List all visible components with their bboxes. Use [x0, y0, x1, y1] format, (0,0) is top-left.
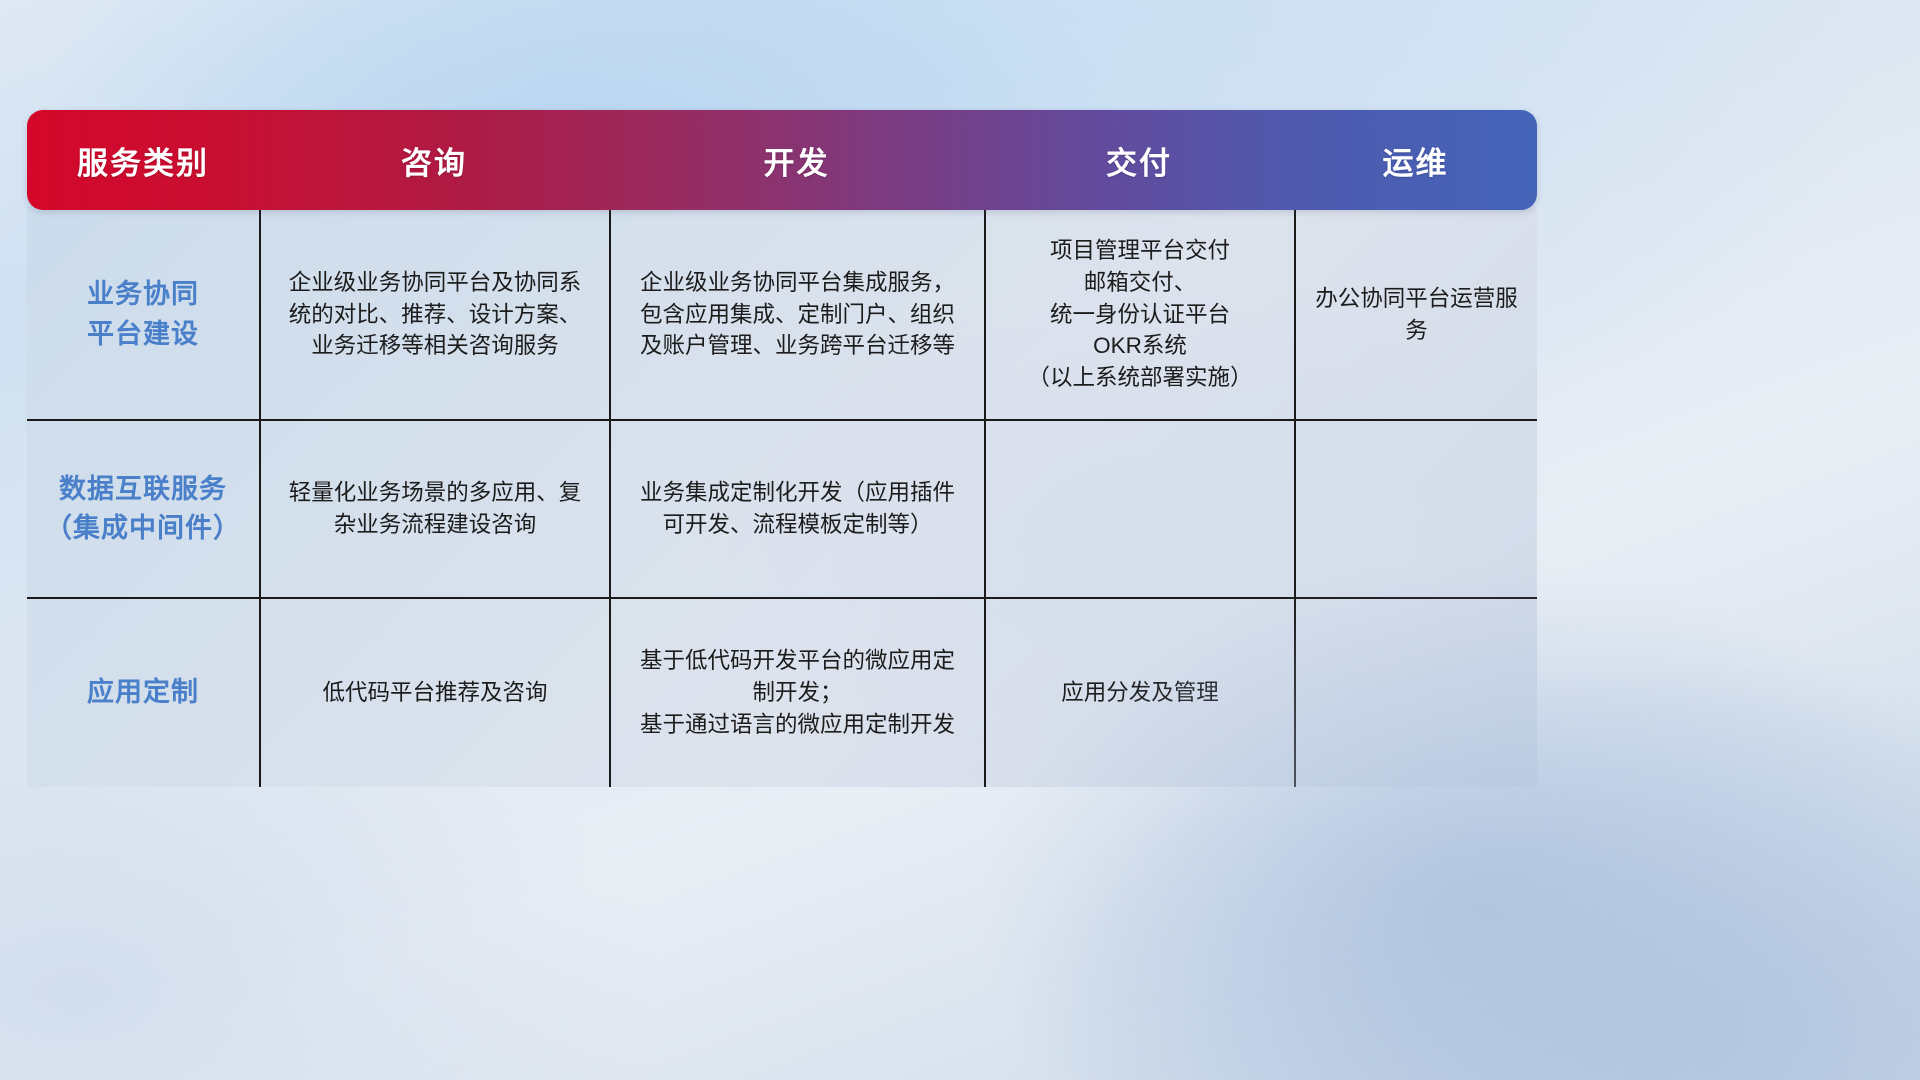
- column-header-delivery: 交付: [984, 110, 1294, 210]
- cell-consulting: 低代码平台推荐及咨询: [259, 599, 609, 787]
- slide-canvas: 服务类别 咨询 开发 交付 运维 业务协同 平台建设 企业级业务协同平台及协同系…: [0, 0, 1920, 1080]
- table-header-row: 服务类别 咨询 开发 交付 运维: [27, 110, 1537, 210]
- cell-category: 数据互联服务 （集成中间件）: [27, 421, 259, 597]
- table-row: 数据互联服务 （集成中间件） 轻量化业务场景的多应用、复 杂业务流程建设咨询 业…: [27, 419, 1537, 597]
- cell-delivery: [984, 421, 1294, 597]
- column-header-category: 服务类别: [27, 110, 259, 210]
- cell-operations: 办公协同平台运营服务: [1294, 210, 1537, 419]
- column-header-operations: 运维: [1294, 110, 1537, 210]
- cell-development: 企业级业务协同平台集成服务， 包含应用集成、定制门户、组织 及账户管理、业务跨平…: [609, 210, 984, 419]
- cell-delivery: 应用分发及管理: [984, 599, 1294, 787]
- cell-development: 业务集成定制化开发（应用插件 可开发、流程模板定制等）: [609, 421, 984, 597]
- cell-consulting: 轻量化业务场景的多应用、复 杂业务流程建设咨询: [259, 421, 609, 597]
- table-body: 业务协同 平台建设 企业级业务协同平台及协同系 统的对比、推荐、设计方案、 业务…: [27, 206, 1537, 787]
- service-matrix-table: 服务类别 咨询 开发 交付 运维 业务协同 平台建设 企业级业务协同平台及协同系…: [27, 110, 1537, 787]
- cell-consulting: 企业级业务协同平台及协同系 统的对比、推荐、设计方案、 业务迁移等相关咨询服务: [259, 210, 609, 419]
- table-row: 业务协同 平台建设 企业级业务协同平台及协同系 统的对比、推荐、设计方案、 业务…: [27, 210, 1537, 419]
- cell-development: 基于低代码开发平台的微应用定 制开发； 基于通过语言的微应用定制开发: [609, 599, 984, 787]
- table-row: 应用定制 低代码平台推荐及咨询 基于低代码开发平台的微应用定 制开发； 基于通过…: [27, 597, 1537, 787]
- cell-delivery: 项目管理平台交付 邮箱交付、 统一身份认证平台 OKR系统 （以上系统部署实施）: [984, 210, 1294, 419]
- cell-operations: [1294, 599, 1537, 787]
- cell-operations: [1294, 421, 1537, 597]
- cell-category: 应用定制: [27, 599, 259, 787]
- column-header-consulting: 咨询: [259, 110, 609, 210]
- column-header-development: 开发: [609, 110, 984, 210]
- cell-category: 业务协同 平台建设: [27, 210, 259, 419]
